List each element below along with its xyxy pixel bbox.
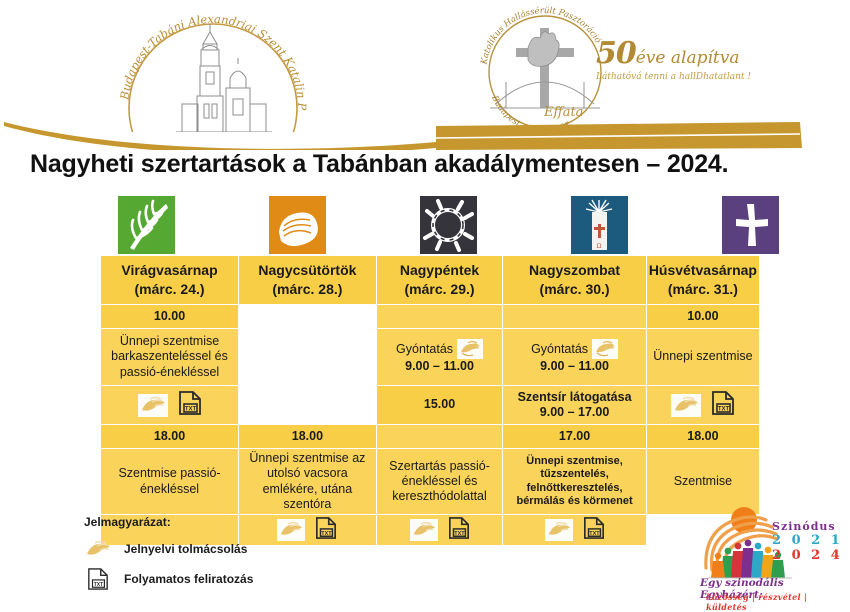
column-header-virágvasárnap: Virágvasárnap (márc. 24.) <box>101 256 239 305</box>
palm-branch-icon <box>118 196 175 254</box>
cell-empty-nagycsütörtök <box>239 305 377 425</box>
synod-subtitle: közösség | részvétel | küldetés <box>706 592 850 612</box>
header-day: Virágvasárnap <box>103 261 236 280</box>
header-day: Nagypéntek <box>379 261 501 280</box>
legend-title: Jelmagyarázat: <box>84 515 384 529</box>
paschal-candle-icon: Ω <box>571 196 628 254</box>
cell-icons-húsvétvasárnap: TXT <box>646 386 759 425</box>
cell-tomb-nagyszombat: Szentsír látogatása 9.00 – 17.00 <box>503 386 646 425</box>
logo-band: Budapest-Tabáni Alexandriai Szent Katali… <box>0 0 850 140</box>
cell-text-nagypéntek-afternoon: Szertartás passió-énekléssel és kereszth… <box>376 449 503 515</box>
txt-document-icon: TXT <box>448 516 470 544</box>
svg-text:TXT: TXT <box>718 406 730 412</box>
cell-text-húsvétvasárnap-morning: Ünnepi szentmise <box>646 329 759 386</box>
cell-time-húsvétvasárnap-evening: 18.00 <box>646 425 759 449</box>
legend-item: TXT Folyamatos feliratozás <box>84 567 384 591</box>
header-day: Húsvétvasárnap <box>649 261 757 280</box>
sign-language-hands-icon <box>410 519 438 541</box>
anniversary-number: 50 <box>596 36 636 71</box>
sign-language-hands-icon <box>138 394 168 417</box>
tomb-label: Szentsír látogatása <box>506 390 642 405</box>
column-header-húsvétvasárnap: Húsvétvasárnap (márc. 31.) <box>646 256 759 305</box>
legend-label: Jelnyelvi tolmácsolás <box>124 542 247 556</box>
sign-language-hands-icon <box>457 339 483 359</box>
header-date: (márc. 29.) <box>379 280 501 299</box>
legend: Jelmagyarázat: Jelnyelvi tolmácsolás TXT… <box>84 515 384 597</box>
anniversary-slogan: Láthatóvá tenni a hallDhatatlant ! <box>596 72 756 82</box>
cell-time-virágvasárnap-morning: 10.00 <box>101 305 239 329</box>
cell-icons-nagypéntek: TXT <box>376 515 503 546</box>
svg-text:TXT: TXT <box>184 406 196 412</box>
confession-label: Gyóntatás <box>396 342 453 357</box>
synod-year-start: 2 0 2 1 <box>772 533 843 548</box>
txt-document-icon: TXT <box>84 567 112 591</box>
cell-icons-virágvasárnap: TXT <box>101 386 239 425</box>
anniversary-years: éve alapítva <box>636 48 740 68</box>
crown-of-thorns-icon <box>420 196 477 254</box>
bread-loaf-icon <box>269 196 326 254</box>
cell-confession-nagyszombat: Gyóntatás 9.00 – 11.00 <box>503 329 646 386</box>
cell-text-virágvasárnap-evening: Szentmise passió-énekléssel <box>101 449 239 515</box>
svg-text:Ω: Ω <box>597 243 602 250</box>
txt-document-icon: TXT <box>178 390 202 420</box>
txt-document-icon: TXT <box>583 516 605 544</box>
sign-language-hands-icon <box>545 519 573 541</box>
synod-year-end: 2 0 2 4 <box>772 548 843 563</box>
cell-spacer-nagyszombat <box>503 305 646 329</box>
cell-time-húsvétvasárnap-morning: 10.00 <box>646 305 759 329</box>
table-row: 10.00 10.00 <box>101 305 760 329</box>
header-day: Nagyszombat <box>505 261 643 280</box>
symbol-row: Ω <box>100 196 760 254</box>
confession-time: 9.00 – 11.00 <box>380 359 500 374</box>
legend-item: Jelnyelvi tolmácsolás <box>84 537 384 561</box>
confession-label: Gyóntatás <box>531 342 588 357</box>
cell-text-nagyszombat-evening: Ünnepi szentmise, tűzszentelés, felnőttk… <box>503 449 646 515</box>
header-date: (márc. 24.) <box>103 280 236 299</box>
table-row: Ünnepi szentmise barkaszenteléssel és pa… <box>101 329 760 386</box>
synod-logo: Szinódus 2 0 2 1 2 0 2 4 Egy szinodális … <box>692 498 850 611</box>
header-date: (márc. 28.) <box>241 280 374 299</box>
cell-time-nagyszombat-evening: 17.00 <box>503 425 646 449</box>
svg-text:Budapest-Tabáni Alexandriai Sz: Budapest-Tabáni Alexandriai Szent Katali… <box>98 4 309 111</box>
svg-text:TXT: TXT <box>589 531 600 537</box>
column-header-nagycsütörtök: Nagycsütörtök (márc. 28.) <box>239 256 377 305</box>
synod-word: Szinódus <box>772 520 843 533</box>
table-header-row: Virágvasárnap (márc. 24.) Nagycsütörtök … <box>101 256 760 305</box>
header-day: Nagycsütörtök <box>241 261 374 280</box>
column-header-nagypéntek: Nagypéntek (márc. 29.) <box>376 256 503 305</box>
tomb-time: 9.00 – 17.00 <box>506 405 642 420</box>
cell-confession-nagypéntek: Gyóntatás 9.00 – 11.00 <box>376 329 503 386</box>
cross-icon <box>722 196 779 254</box>
cell-time-nagypéntek-afternoon: 15.00 <box>376 386 503 425</box>
cell-time-virágvasárnap-evening: 18.00 <box>101 425 239 449</box>
cell-icons-nagyszombat: TXT <box>503 515 646 546</box>
page-title: Nagyheti szertartások a Tabánban akadály… <box>30 150 820 179</box>
cell-time-nagycsütörtök-evening: 18.00 <box>239 425 377 449</box>
cell-text-nagycsütörtök-evening: Ünnepi szentmise az utolsó vacsora emlék… <box>239 449 377 515</box>
schedule-table: Virágvasárnap (márc. 24.) Nagycsütörtök … <box>100 255 760 546</box>
legend-label: Folyamatos feliratozás <box>124 572 253 586</box>
synod-text: Szinódus 2 0 2 1 2 0 2 4 <box>772 520 843 563</box>
anniversary-text: 50éve alapítva Láthatóvá tenni a hallDha… <box>596 36 756 90</box>
txt-document-icon: TXT <box>711 390 735 420</box>
cell-text-virágvasárnap-morning: Ünnepi szentmise barkaszenteléssel és pa… <box>101 329 239 386</box>
header-date: (márc. 31.) <box>649 280 757 299</box>
svg-text:TXT: TXT <box>94 582 104 588</box>
header-date: (márc. 30.) <box>505 280 643 299</box>
svg-text:TXT: TXT <box>454 531 465 537</box>
sign-language-hands-icon <box>592 339 618 359</box>
sign-language-hands-icon <box>84 537 112 561</box>
sign-language-hands-icon <box>671 394 701 417</box>
cell-spacer-nagypéntek <box>376 305 503 329</box>
gold-swoosh-divider <box>0 108 850 150</box>
table-row: TXT 15.00 Szentsír látogatása 9.00 – 17.… <box>101 386 760 425</box>
cell-spacer-nagypéntek-2 <box>376 425 503 449</box>
column-header-nagyszombat: Nagyszombat (márc. 30.) <box>503 256 646 305</box>
table-row: 18.00 18.00 17.00 18.00 <box>101 425 760 449</box>
confession-time: 9.00 – 11.00 <box>506 359 642 374</box>
table-row: Szentmise passió-énekléssel Ünnepi szent… <box>101 449 760 515</box>
